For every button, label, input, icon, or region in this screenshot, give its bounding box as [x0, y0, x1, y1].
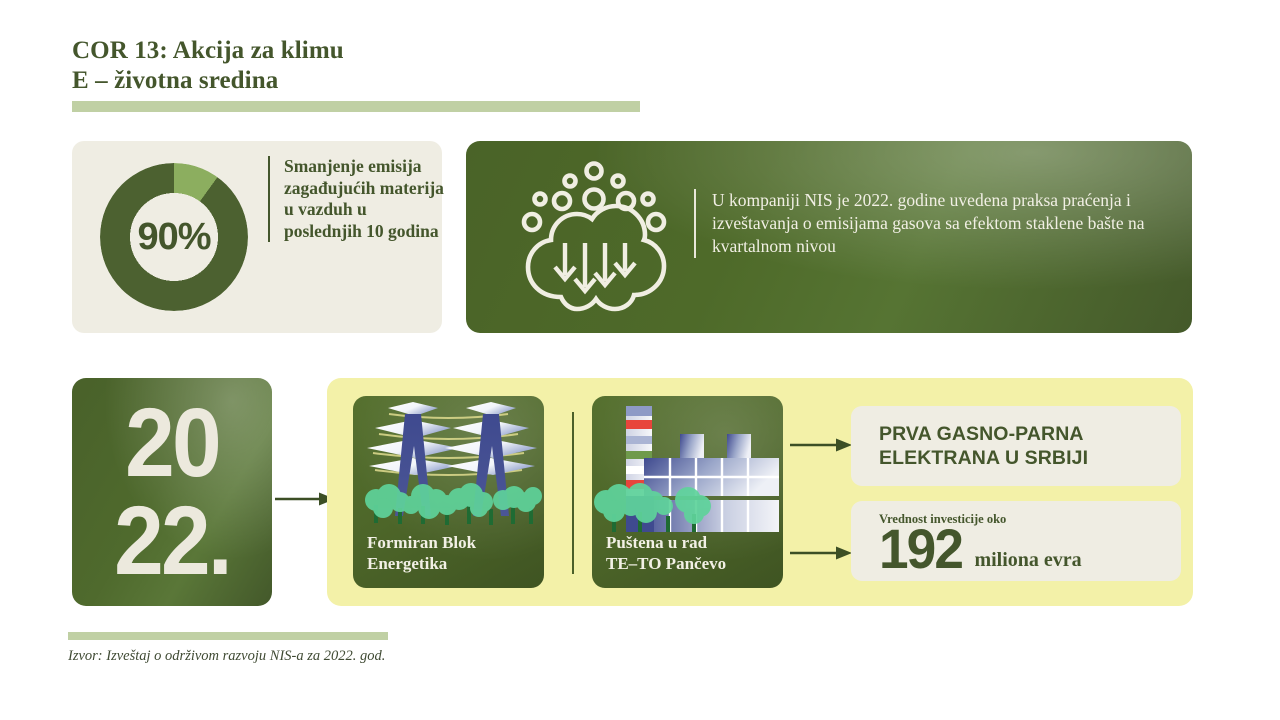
source-note: Izvor: Izveštaj o održivom razvoju NIS-a… [68, 648, 385, 665]
result-box-investicija: Vrednost investicije oko 192 miliona evr… [851, 501, 1181, 581]
year-label: 20 22. [80, 378, 264, 606]
result-elektrana-title: PRVA GASNO-PARNA ELEKTRANA U SRBIJI [879, 422, 1167, 470]
footer-rule [68, 632, 388, 640]
card-caption-pancevo: Puštena u rad TE–TO Pančevo [606, 532, 775, 574]
year-bottom: 22. [114, 492, 230, 590]
title-line-2: E – životna sredina [72, 66, 712, 96]
donut-center-label: 90% [100, 163, 248, 311]
ghg-monitoring-card: U kompaniji NIS je 2022. godine uvedena … [466, 141, 1192, 333]
arrow-to-elektrana-icon [790, 438, 852, 452]
year-top: 20 [125, 394, 219, 492]
emissions-reduction-card: 90% Smanjenje emisija zagađujućih materi… [72, 141, 442, 333]
result-box-elektrana: PRVA GASNO-PARNA ELEKTRANA U SRBIJI [851, 406, 1181, 486]
arrow-year-to-cards-icon [275, 492, 335, 506]
cloud-with-down-arrows-icon [514, 159, 674, 314]
investment-amount: 192 [879, 523, 962, 575]
arrow-to-investicija-icon [790, 546, 852, 560]
year-2022-block: 20 22. [72, 378, 272, 606]
ghg-monitoring-text: U kompaniji NIS je 2022. godine uvedena … [694, 189, 1182, 258]
card-te-to-pancevo: Puštena u rad TE–TO Pančevo [592, 396, 783, 588]
cards-divider [572, 412, 574, 574]
page-title: COR 13: Akcija za klimu E – životna sred… [72, 36, 712, 96]
card-caption-energetika: Formiran Blok Energetika [367, 532, 536, 574]
title-line-1: COR 13: Akcija za klimu [72, 36, 712, 66]
investment-value-row: 192 miliona evra [879, 523, 1082, 575]
infographic-root: COR 13: Akcija za klimu E – životna sred… [0, 0, 1280, 720]
title-underline-bar [72, 101, 640, 112]
donut-chart: 90% [100, 163, 248, 311]
donut-description: Smanjenje emisija zagađujućih materija u… [268, 156, 444, 242]
investment-unit: miliona evra [974, 548, 1081, 575]
card-formiran-blok-energetika: Formiran Blok Energetika [353, 396, 544, 588]
